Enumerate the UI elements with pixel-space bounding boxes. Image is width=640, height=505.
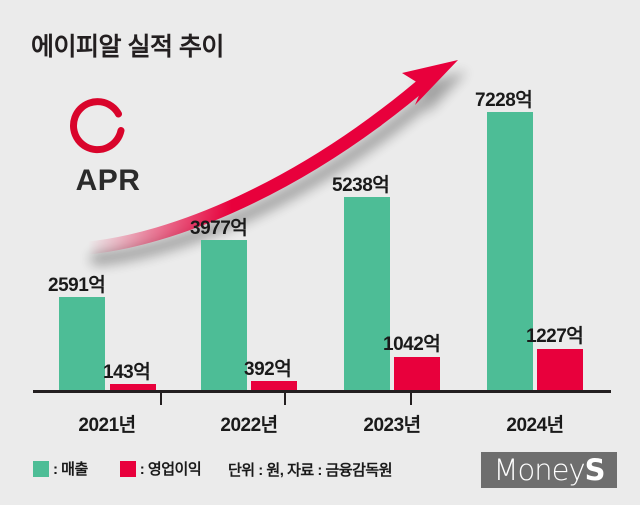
category-label-2022: 2022년: [194, 410, 304, 437]
bar-label-revenue-2021: 2591억: [48, 270, 105, 297]
infographic-root: 에이피알 실적 추이 APR: [0, 0, 640, 505]
category-label-2021: 2021년: [52, 410, 162, 437]
bar-label-revenue-2024: 7228억: [475, 85, 532, 112]
legend-swatch-revenue: [33, 461, 49, 477]
bar-label-profit-2024: 1227억: [526, 321, 583, 348]
watermark-text-light: Money: [493, 453, 584, 487]
axis-tick-2: [284, 393, 286, 405]
x-axis-line: [33, 390, 611, 393]
bar-profit-2021: [110, 384, 156, 390]
axis-tick-1: [160, 393, 162, 405]
watermark-moneys: MoneyS: [481, 452, 617, 488]
bar-revenue-2021: [59, 297, 105, 390]
bar-revenue-2024: [487, 112, 533, 390]
legend-swatch-profit: [120, 461, 136, 477]
legend-label-profit: : 영업이익: [140, 458, 201, 479]
bar-label-revenue-2023: 5238억: [332, 170, 389, 197]
watermark-text-bold: S: [585, 453, 605, 487]
legend-item-profit: : 영업이익: [120, 458, 201, 479]
axis-tick-3: [410, 393, 412, 405]
bar-label-profit-2021: 143억: [103, 357, 150, 384]
bar-chart: 2591억 143억 2021년 3977억 392억 2022년 5238억 …: [0, 0, 640, 505]
bar-profit-2023: [394, 357, 440, 390]
bar-profit-2022: [251, 381, 297, 390]
bar-revenue-2023: [344, 197, 390, 390]
bar-label-profit-2023: 1042억: [383, 329, 440, 356]
chart-legend: : 매출 : 영업이익: [33, 458, 201, 479]
bar-label-profit-2022: 392억: [244, 354, 291, 381]
bar-revenue-2022: [201, 240, 247, 390]
category-label-2024: 2024년: [480, 410, 590, 437]
bar-label-revenue-2022: 3977억: [190, 213, 247, 240]
legend-label-revenue: : 매출: [53, 458, 88, 479]
source-note: 단위 : 원, 자료 : 금융감독원: [228, 459, 392, 480]
bar-profit-2024: [537, 349, 583, 390]
category-label-2023: 2023년: [337, 410, 447, 437]
legend-item-revenue: : 매출: [33, 458, 88, 479]
